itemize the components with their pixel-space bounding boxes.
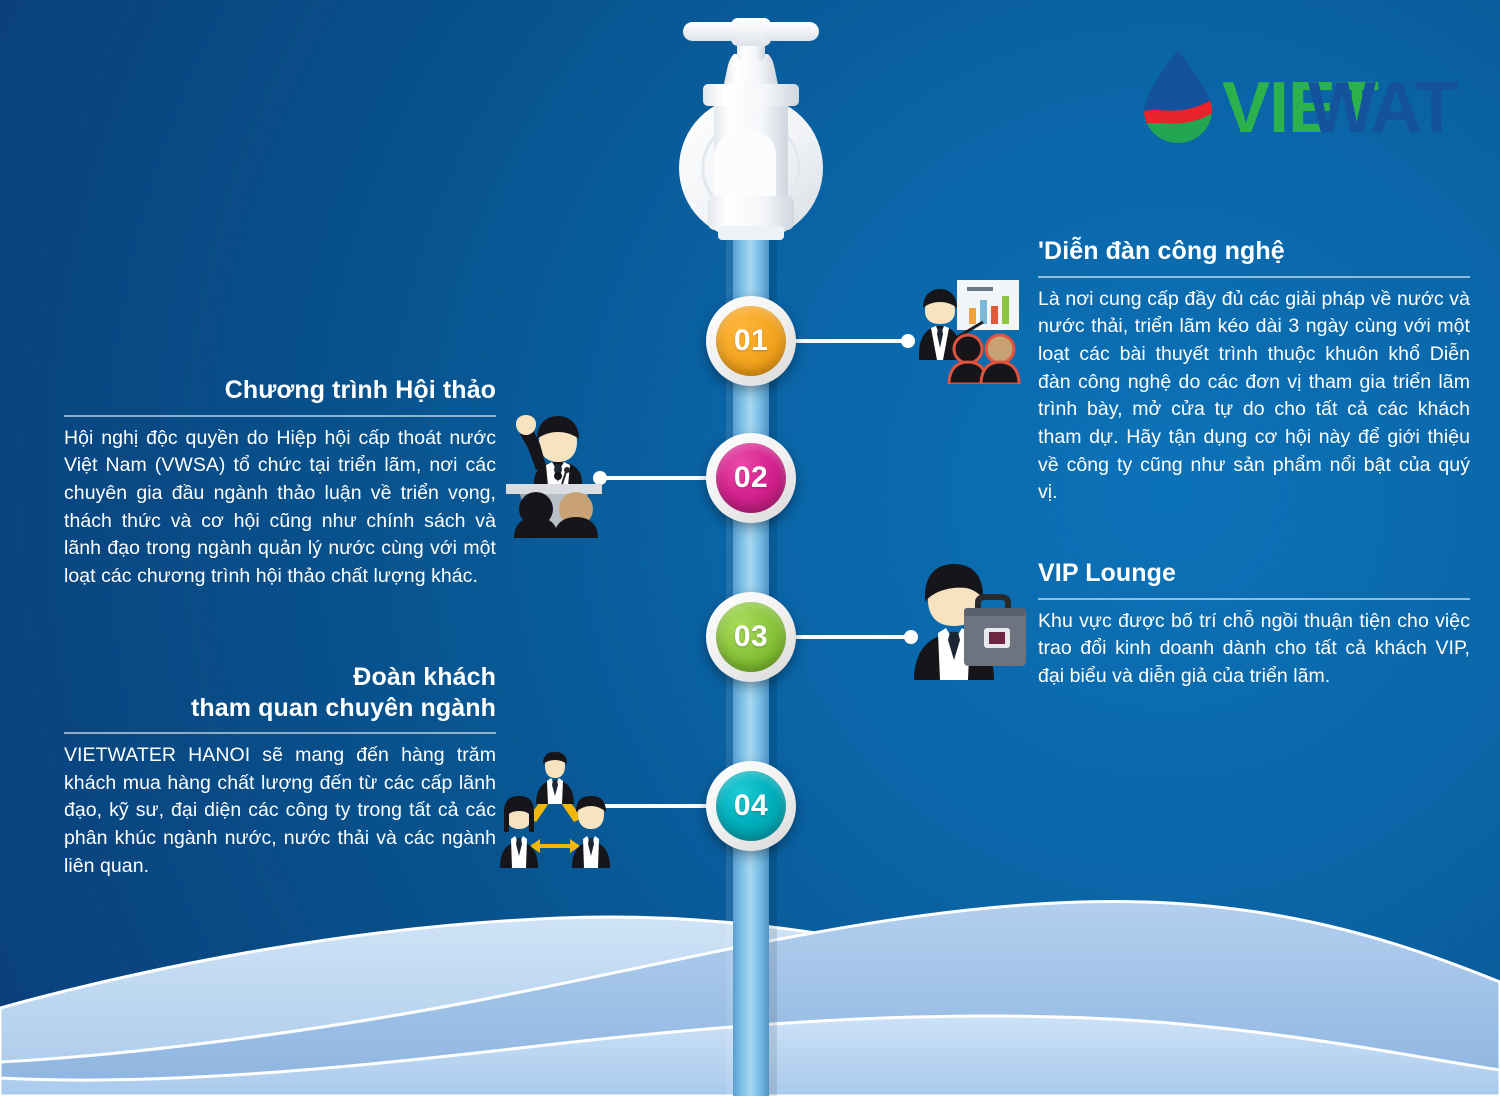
vietwater-logo: VIET WATER [1140, 44, 1460, 152]
logo-water-text: WATER [1308, 68, 1460, 148]
step-title-04-line2: tham quan chuyên ngành [191, 694, 496, 722]
title-divider-02 [64, 415, 496, 417]
step-node-01[interactable]: 01 [706, 296, 796, 386]
step-title-03: VIP Lounge [1038, 558, 1470, 589]
step-body-01: Là nơi cung cấp đầy đủ các giải pháp về … [1038, 286, 1470, 508]
step-number-04: 04 [734, 789, 768, 823]
title-divider-03 [1038, 598, 1470, 600]
step-text-block-01: 'Diễn đàn công nghệ Là nơi cung cấp đầy … [1038, 236, 1470, 507]
title-divider-04 [64, 732, 496, 734]
step-body-03: Khu vực được bố trí chỗ ngồi thuận tiện … [1038, 608, 1470, 691]
step-number-01: 01 [734, 324, 768, 358]
connector-line-02 [600, 476, 710, 480]
podium-speaker-icon [492, 412, 616, 538]
connector-line-03 [793, 635, 911, 639]
connector-line-01 [793, 339, 908, 343]
step-title-04: Đoàn khách tham quan chuyên ngành [64, 662, 496, 723]
step-title-02: Chương trình Hội thảo [64, 375, 496, 406]
step-body-04: VIETWATER HANOI sẽ mang đến hàng trăm kh… [64, 742, 496, 880]
step-number-03: 03 [734, 620, 768, 654]
step-text-block-03: VIP Lounge Khu vực được bố trí chỗ ngồi … [1038, 558, 1470, 691]
step-node-04[interactable]: 04 [706, 761, 796, 851]
step-body-02: Hội nghị độc quyền do Hiệp hội cấp thoát… [64, 425, 496, 591]
infographic-canvas: VIET WATER 01 02 03 04 [0, 0, 1500, 1096]
step-number-02: 02 [734, 461, 768, 495]
step-text-block-02: Chương trình Hội thảo Hội nghị độc quyền… [64, 375, 496, 591]
business-network-group-icon [492, 752, 618, 868]
title-divider-01 [1038, 276, 1470, 278]
step-title-04-line1: Đoàn khách [353, 663, 496, 691]
step-text-block-04: Đoàn khách tham quan chuyên ngành VIETWA… [64, 662, 496, 880]
step-title-01: 'Diễn đàn công nghệ [1038, 236, 1470, 267]
presentation-speaker-icon [905, 276, 1023, 384]
faucet-tap-icon [648, 0, 854, 262]
businessman-briefcase-icon [906, 556, 1032, 680]
step-node-02[interactable]: 02 [706, 433, 796, 523]
step-node-03[interactable]: 03 [706, 592, 796, 682]
